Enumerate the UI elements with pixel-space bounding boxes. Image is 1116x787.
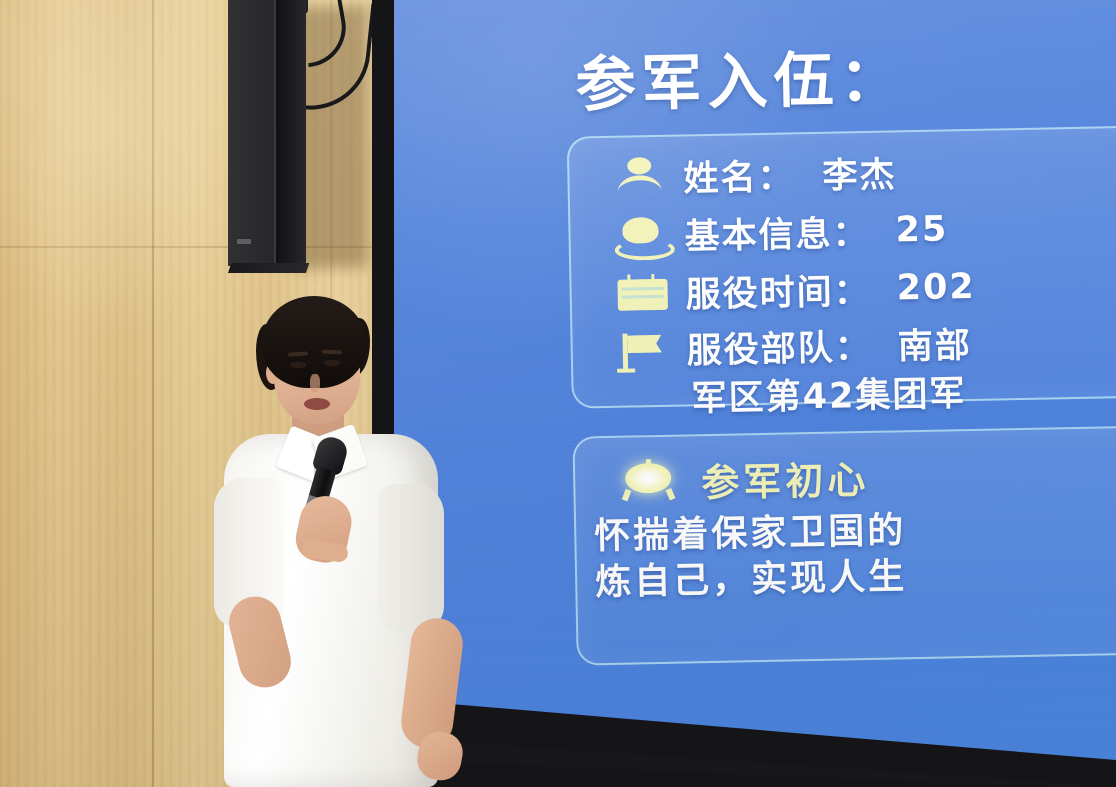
presenter-nose <box>310 374 320 392</box>
info-row-service-unit-wrap: 军区第42集团军 <box>691 365 967 421</box>
flag-icon <box>614 326 671 371</box>
info-card: 姓名： 李杰 基本信息： 25 服役时间： 202 <box>567 123 1116 408</box>
speaker-logo <box>237 239 251 244</box>
motive-heading: 参军初心 <box>701 449 870 507</box>
badge-icon <box>612 212 669 257</box>
presenter-eye-left <box>290 362 306 368</box>
speaker-grille <box>228 0 276 266</box>
info-row-service-time-value: 202 <box>896 266 976 308</box>
calendar-icon <box>613 270 670 315</box>
motive-body-line-1: 怀揣着保家卫国的 <box>594 508 907 560</box>
motive-body-line-2: 炼自己，实现人生 <box>595 554 908 606</box>
info-row-name-label: 姓名： <box>683 148 795 201</box>
info-row-name: 姓名： 李杰 <box>611 146 897 202</box>
info-row-basic: 基本信息： 25 <box>612 203 949 260</box>
info-row-basic-label: 基本信息： <box>684 205 870 260</box>
speaker-side-panel <box>276 0 306 266</box>
wall-speaker <box>228 0 306 266</box>
info-row-service-unit-value: 南部 <box>897 317 972 369</box>
info-row-service-unit-label: 服役部队： <box>686 319 872 374</box>
presenter-person <box>210 296 510 787</box>
info-row-basic-value: 25 <box>895 209 948 250</box>
info-row-service-time-label: 服役时间： <box>685 263 871 318</box>
motive-card: 参军初心 怀揣着保家卫国的 炼自己，实现人生 <box>572 423 1116 665</box>
info-row-service-time: 服役时间： 202 <box>613 261 976 319</box>
presenter-right-sleeve <box>378 484 444 632</box>
info-row-name-value: 李杰 <box>822 146 897 198</box>
presenter-eye-right <box>324 360 340 366</box>
slide-title: 参军入伍： <box>575 30 907 123</box>
speaker-bottom <box>228 263 309 273</box>
person-icon <box>611 154 668 199</box>
motive-heading-row: 参军初心 <box>617 449 870 509</box>
presenter-mouth <box>304 398 330 410</box>
photo-scene: 参军入伍： 姓名： 李杰 基本信息： 25 <box>0 0 1116 787</box>
motive-body: 怀揣着保家卫国的 炼自己，实现人生 <box>594 508 908 606</box>
lightbulb-icon <box>617 458 680 503</box>
